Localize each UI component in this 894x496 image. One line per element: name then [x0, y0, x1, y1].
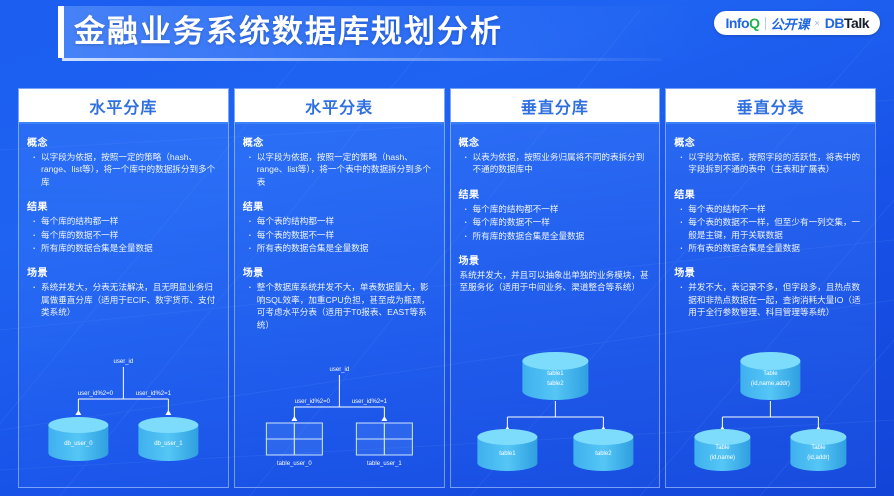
diagram-horizontal-table-sharding: user_id user_id%2=0 user_id%2=1	[235, 349, 444, 481]
slide-root: 金融业务系统数据库规划分析 InfoQ 公开课 × DBTalk 水平分库 概念…	[0, 0, 894, 496]
card-body: 概念 以表为依据，按照业务归属将不同的表拆分到不通的数据库中 结果 每个库的结构…	[451, 124, 660, 487]
section-label-result: 结果	[674, 186, 867, 201]
card-grid: 水平分库 概念 以字段为依据，按照一定的策略（hash、range、list等）…	[0, 88, 894, 488]
logo-divider	[765, 17, 766, 30]
card-header: 垂直分库	[451, 89, 660, 124]
list-item: 以字段为依据，按照字段的活跃性，将表中的字段拆到不通的表中（主表和扩展表）	[676, 151, 867, 176]
section-label-concept: 概念	[27, 134, 220, 149]
list-item: 所有库的数据合集是全量数据	[29, 242, 220, 254]
result-list: 每个库的结构都不一样 每个库的数据不一样 所有库的数据合集是全量数据	[461, 203, 652, 242]
diagram-root-line1: Table	[763, 371, 778, 377]
section-label-scenario: 场景	[27, 264, 220, 279]
diagram-left-line1: Table	[715, 445, 730, 451]
card-header: 垂直分表	[666, 89, 875, 124]
list-item: 每个表的结构都一样	[245, 215, 436, 227]
section-label-scenario: 场景	[243, 264, 436, 279]
times-icon: ×	[815, 18, 820, 28]
concept-list: 以字段为依据，按照一定的策略（hash、range、list等），将一个库中的数…	[29, 151, 220, 188]
title-underline	[62, 58, 662, 61]
concept-list: 以字段为依据，按照字段的活跃性，将表中的字段拆到不通的表中（主表和扩展表）	[676, 151, 867, 176]
brand-logo: InfoQ 公开课 × DBTalk	[714, 11, 880, 35]
section-label-result: 结果	[243, 198, 436, 213]
card-title: 水平分库	[89, 94, 157, 118]
diagram-vertical-db-sharding: table1 table2	[451, 349, 660, 481]
list-item: 所有库的数据合集是全量数据	[461, 230, 652, 242]
dbtalk-logo-db: DB	[825, 15, 844, 31]
diagram-edge-left-label: user_id%2=0	[295, 399, 331, 405]
result-list: 每个表的结构都一样 每个表的数据不一样 所有表的数据合集是全量数据	[245, 215, 436, 254]
diagram-right-label: table2	[595, 451, 612, 457]
card-body: 概念 以字段为依据，按照一定的策略（hash、range、list等），将一个表…	[235, 124, 444, 487]
cylinder-right: Table (id,addr)	[791, 429, 847, 471]
diagram-root-line1: table1	[547, 371, 564, 377]
scenario-list: 系统并发大，分表无法解决，且无明显业务归属做垂直分库（适用于ECIF、数字货币、…	[29, 281, 220, 318]
cylinder-right: table2	[573, 429, 633, 471]
cylinder-right: db_user_1	[138, 417, 198, 461]
infoq-logo: InfoQ	[725, 15, 759, 31]
diagram-right-line1: Table	[811, 445, 826, 451]
concept-list: 以表为依据，按照业务归属将不同的表拆分到不通的数据库中	[461, 151, 652, 176]
cylinder-root: Table (id,name,addr)	[741, 352, 801, 400]
list-item: 以字段为依据，按照一定的策略（hash、range、list等），将一个表中的数…	[245, 151, 436, 188]
diagram-edge-left-label: user_id%2=0	[78, 391, 114, 397]
card-title: 垂直分库	[521, 94, 589, 118]
infoq-logo-q: Q	[749, 15, 759, 31]
diagram-right-label: table_user_1	[367, 461, 402, 467]
section-label-scenario: 场景	[674, 264, 867, 279]
result-list: 每个表的结构不一样 每个表的数据不一样，但至少有一列交集，一般是主键，用于关联数…	[676, 203, 867, 255]
list-item: 所有表的数据合集是全量数据	[245, 242, 436, 254]
diagram-right-label: db_user_1	[154, 441, 183, 447]
diagram-root-line2: (id,name,addr)	[751, 381, 790, 387]
card-header: 水平分表	[235, 89, 444, 124]
infoq-logo-info: Info	[725, 15, 749, 31]
table-grid-left	[266, 423, 322, 455]
diagram-right-line2: (id,addr)	[807, 455, 829, 461]
card-horizontal-table-sharding: 水平分表 概念 以字段为依据，按照一定的策略（hash、range、list等）…	[234, 88, 445, 488]
diagram-edge-right-label: user_id%2=1	[136, 391, 172, 397]
list-item: 每个表的数据不一样	[245, 229, 436, 241]
section-label-result: 结果	[27, 198, 220, 213]
section-label-concept: 概念	[674, 134, 867, 149]
card-vertical-db-sharding: 垂直分库 概念 以表为依据，按照业务归属将不同的表拆分到不通的数据库中 结果 每…	[450, 88, 661, 488]
list-item: 所有表的数据合集是全量数据	[676, 242, 867, 254]
card-vertical-table-sharding: 垂直分表 概念 以字段为依据，按照字段的活跃性，将表中的字段拆到不通的表中（主表…	[665, 88, 876, 488]
card-body: 概念 以字段为依据，按照一定的策略（hash、range、list等），将一个库…	[19, 124, 228, 487]
list-item: 每个表的数据不一样，但至少有一列交集，一般是主键，用于关联数据	[676, 216, 867, 241]
slide-header: 金融业务系统数据库规划分析 InfoQ 公开课 × DBTalk	[0, 0, 894, 66]
cylinder-left: db_user_0	[48, 417, 108, 461]
dbtalk-logo: DBTalk	[825, 15, 869, 31]
diagram-left-label: table_user_0	[277, 461, 312, 467]
scenario-list: 并发不大，表记录不多，但字段多，且热点数据和非热点数据在一起，查询消耗大量IO（…	[676, 281, 867, 318]
list-item: 每个库的结构都一样	[29, 215, 220, 227]
cylinder-left: table1	[477, 429, 537, 471]
diagram-edge-right-label: user_id%2=1	[352, 399, 388, 405]
page-title: 金融业务系统数据库规划分析	[74, 10, 503, 54]
cylinder-root: table1 table2	[522, 352, 588, 400]
diagram-left-line2: (id,name)	[710, 455, 735, 461]
scenario-list: 整个数据库系统并发不大，单表数据量大，影响SQL效率，加重CPU负担，甚至成为瓶…	[245, 281, 436, 331]
diagram-root-line2: table2	[547, 381, 564, 387]
card-horizontal-db-sharding: 水平分库 概念 以字段为依据，按照一定的策略（hash、range、list等）…	[18, 88, 229, 488]
section-label-concept: 概念	[243, 134, 436, 149]
section-label-scenario: 场景	[459, 252, 652, 267]
list-item: 每个库的结构都不一样	[461, 203, 652, 215]
diagram-left-label: db_user_0	[64, 441, 93, 447]
diagram-horizontal-db-sharding: user_id user_id%2=0 user_id%2=1	[19, 349, 228, 481]
card-title: 水平分表	[305, 94, 373, 118]
list-item: 系统并发大，分表无法解决，且无明显业务归属做垂直分库（适用于ECIF、数字货币、…	[29, 281, 220, 318]
list-item: 每个库的数据不一样	[461, 216, 652, 228]
dbtalk-logo-talk: Talk	[844, 15, 869, 31]
scenario-text: 系统并发大，并且可以抽象出单独的业务模块，甚至服务化（适用于中间业务、渠道整合等…	[460, 269, 652, 294]
list-item: 每个库的数据不一样	[29, 229, 220, 241]
cylinder-left: Table (id,name)	[695, 429, 751, 471]
list-item: 以表为依据，按照业务归属将不同的表拆分到不通的数据库中	[461, 151, 652, 176]
card-title: 垂直分表	[737, 94, 805, 118]
concept-list: 以字段为依据，按照一定的策略（hash、range、list等），将一个表中的数…	[245, 151, 436, 188]
diagram-root-label: user_id	[329, 367, 349, 373]
list-item: 每个表的结构不一样	[676, 203, 867, 215]
diagram-root-label: user_id	[114, 359, 134, 365]
list-item: 整个数据库系统并发不大，单表数据量大，影响SQL效率，加重CPU负担，甚至成为瓶…	[245, 281, 436, 331]
card-body: 概念 以字段为依据，按照字段的活跃性，将表中的字段拆到不通的表中（主表和扩展表）…	[666, 124, 875, 487]
course-logo: 公开课	[771, 14, 810, 33]
card-header: 水平分库	[19, 89, 228, 124]
diagram-left-label: table1	[499, 451, 516, 457]
diagram-vertical-table-sharding: Table (id,name,addr)	[666, 349, 875, 481]
section-label-concept: 概念	[459, 134, 652, 149]
list-item: 并发不大，表记录不多，但字段多，且热点数据和非热点数据在一起，查询消耗大量IO（…	[676, 281, 867, 318]
section-label-result: 结果	[459, 186, 652, 201]
result-list: 每个库的结构都一样 每个库的数据不一样 所有库的数据合集是全量数据	[29, 215, 220, 254]
list-item: 以字段为依据，按照一定的策略（hash、range、list等），将一个库中的数…	[29, 151, 220, 188]
table-grid-right	[356, 423, 412, 455]
